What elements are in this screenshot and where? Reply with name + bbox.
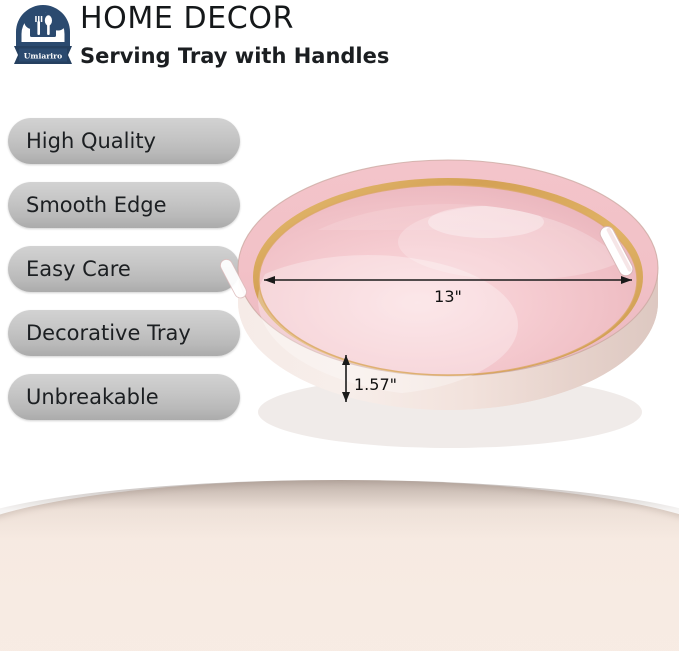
header: Umiariro HOME DECOR Serving Tray with Ha… — [0, 0, 679, 88]
chef-hat-fork-spoon-badge-icon: Umiariro — [12, 2, 74, 68]
dimension-height-label: 1.57" — [354, 375, 397, 394]
product-infographic: Umiariro HOME DECOR Serving Tray with Ha… — [0, 0, 679, 651]
table-surface — [0, 480, 679, 651]
dimension-diameter-label: 13" — [434, 287, 462, 306]
feature-pill: Unbreakable — [8, 374, 240, 420]
page-subtitle: Serving Tray with Handles — [80, 41, 389, 71]
feature-pill-label: High Quality — [26, 129, 156, 153]
serving-tray-illustration: outer wall — [218, 150, 679, 470]
feature-pill-label: Unbreakable — [26, 385, 159, 409]
feature-list: High Quality Smooth Edge Easy Care Decor… — [0, 118, 240, 438]
page-title: HOME DECOR — [80, 0, 389, 38]
feature-pill: Decorative Tray — [8, 310, 240, 356]
feature-pill: Easy Care — [8, 246, 240, 292]
feature-pill-label: Smooth Edge — [26, 193, 167, 217]
brand-logo: Umiariro — [12, 2, 74, 68]
feature-pill-label: Easy Care — [26, 257, 131, 281]
brand-name-text: Umiariro — [24, 51, 62, 60]
feature-pill-label: Decorative Tray — [26, 321, 191, 345]
feature-pill: High Quality — [8, 118, 240, 164]
product-image: outer wall — [218, 150, 679, 470]
brand-text-block: HOME DECOR Serving Tray with Handles — [80, 0, 389, 71]
feature-pill: Smooth Edge — [8, 182, 240, 228]
